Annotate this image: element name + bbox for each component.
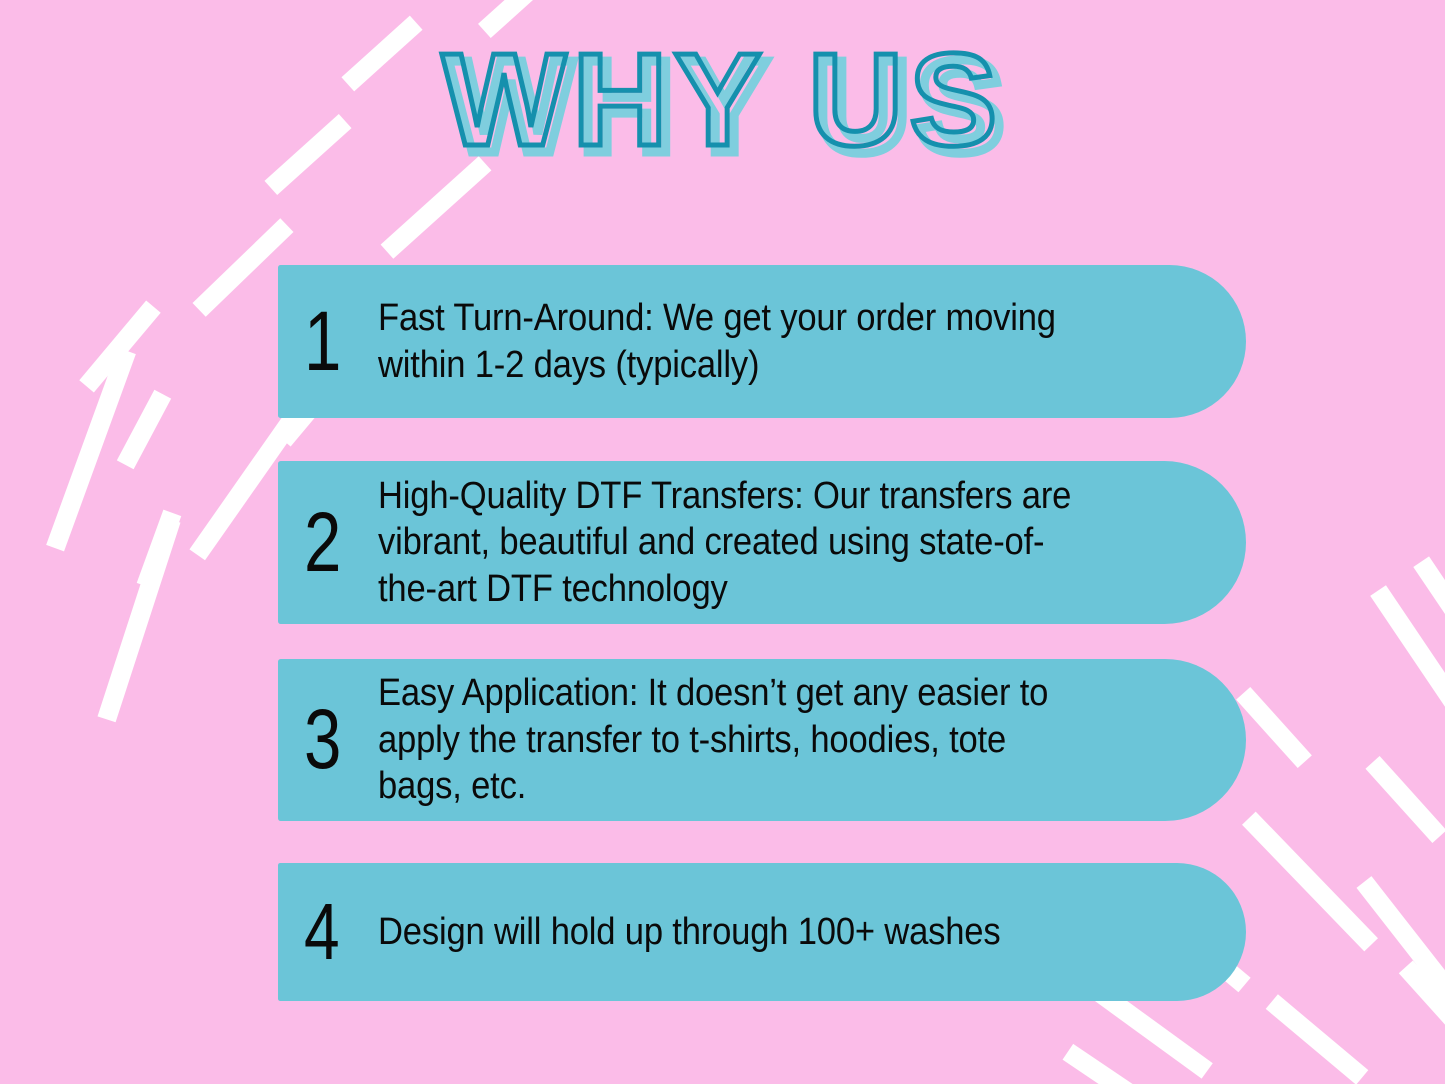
decorative-dash (137, 510, 182, 590)
benefits-list: 1 Fast Turn-Around: We get your order mo… (278, 265, 1246, 1001)
decorative-dash (1242, 812, 1378, 952)
list-item-number: 2 (304, 505, 363, 581)
decorative-dash (1370, 585, 1445, 761)
decorative-dash (1356, 876, 1445, 1011)
title-outline-layer: WHY US (442, 34, 1004, 166)
list-item-number: 1 (304, 304, 363, 380)
list-item: 1 Fast Turn-Around: We get your order mo… (278, 265, 1246, 418)
list-item-number: 3 (304, 702, 363, 778)
decorative-dash (1413, 556, 1445, 646)
decorative-dash (1236, 687, 1312, 768)
decorative-dash (46, 348, 136, 552)
list-item-number: 4 (304, 896, 363, 968)
decorative-dash (79, 301, 160, 393)
list-item-text: Easy Application: It doesn’t get any eas… (378, 670, 1077, 809)
decorative-dash (117, 390, 171, 470)
decorative-dash (1266, 994, 1369, 1084)
list-item: 3 Easy Application: It doesn’t get any e… (278, 659, 1246, 821)
decorative-dash (98, 517, 181, 723)
list-item: 2 High-Quality DTF Transfers: Our transf… (278, 461, 1246, 624)
page-title: WHY US WHY US (0, 34, 1445, 184)
decorative-dash (1365, 756, 1445, 843)
list-item-text: High-Quality DTF Transfers: Our transfer… (378, 473, 1077, 612)
list-item: 4 Design will hold up through 100+ washe… (278, 863, 1246, 1001)
list-item-text: Fast Turn-Around: We get your order movi… (378, 295, 1077, 388)
title-stack: WHY US WHY US (442, 34, 1004, 166)
decorative-dash (1399, 961, 1445, 1063)
list-item-text: Design will hold up through 100+ washes (378, 909, 1077, 955)
decorative-dash (1063, 1044, 1150, 1084)
poster-canvas: WHY US WHY US 1 Fast Turn-Around: We get… (0, 0, 1445, 1084)
